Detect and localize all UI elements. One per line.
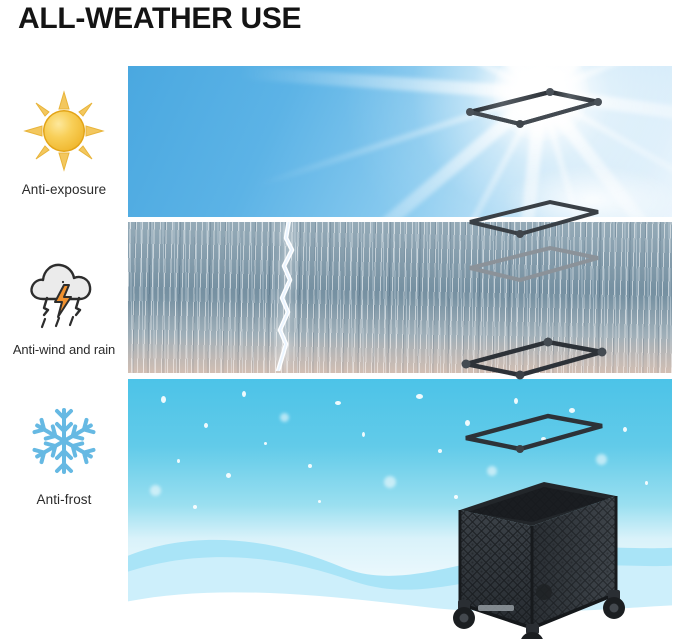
lightning-bolt-icon [269,222,305,371]
feature-label-anti-frost: Anti-frost [0,492,128,507]
feature-label-anti-exposure: Anti-exposure [0,182,128,197]
cloud-rain-lightning-icon [0,248,128,334]
sun-icon [0,88,128,174]
page-title: ALL-WEATHER USE [18,2,301,36]
planter-box [460,482,616,628]
snowflake-icon [0,398,128,484]
feature-anti-exposure: Anti-exposure [0,88,128,197]
feature-label-anti-wind-and-rain: Anti-wind and rain [0,342,128,357]
feature-anti-frost: Anti-frost [0,398,128,507]
upper-frame-cage [466,88,602,238]
raised-garden-planter-with-greenhouse-frame [432,72,642,639]
feature-anti-wind-and-rain: Anti-wind and rain [0,248,128,357]
